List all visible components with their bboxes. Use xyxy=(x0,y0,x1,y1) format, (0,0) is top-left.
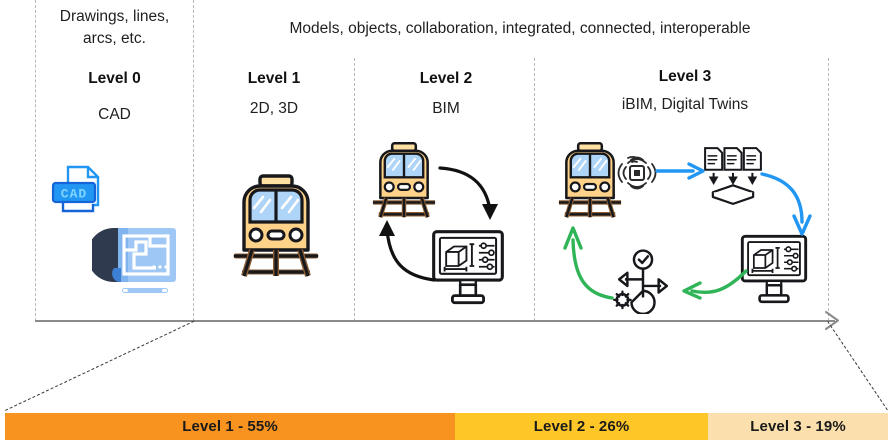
blueprint-roll-icon xyxy=(92,220,182,302)
bim-caption: Models, objects, collaboration, integrat… xyxy=(210,18,830,40)
bar-segment-level-3: Level 3 - 19% xyxy=(708,413,888,440)
cycle-arrow-up-icon xyxy=(378,210,440,288)
connector-right-diagonal xyxy=(827,321,888,410)
level-3-title: Level 3 xyxy=(545,68,825,86)
decision-process-icon xyxy=(606,248,680,314)
level-1-subtitle: 2D, 3D xyxy=(200,100,348,118)
bar-segment-level-1: Level 1 - 55% xyxy=(5,413,455,440)
monitor-model-icon xyxy=(429,227,507,305)
level-1-title: Level 1 xyxy=(200,70,348,88)
train-icon xyxy=(556,140,624,222)
cycle-arrow-down-icon xyxy=(436,162,506,230)
cad-file-icon: CAD xyxy=(46,160,108,222)
level-2-title: Level 2 xyxy=(362,70,530,88)
separator-level0-level1 xyxy=(193,0,194,321)
separator-level1-level2 xyxy=(354,58,355,321)
data-aggregation-icon xyxy=(700,145,766,207)
train-icon xyxy=(230,172,322,282)
level-2-subtitle: BIM xyxy=(362,100,530,118)
arrow-train-to-data-icon xyxy=(655,162,707,180)
separator-level2-level3 xyxy=(534,58,535,321)
bar-segment-level-2: Level 2 - 26% xyxy=(455,413,708,440)
iot-sensor-icon xyxy=(617,152,657,194)
connector-left-diagonal xyxy=(5,321,194,411)
level-0-subtitle: CAD xyxy=(42,106,187,124)
bim-maturity-diagram: Drawings, lines, arcs, etc. Models, obje… xyxy=(0,0,892,440)
separator-left-edge xyxy=(35,0,36,321)
arrow-monitor-to-decision-icon xyxy=(680,265,750,301)
arrow-decision-to-train-icon xyxy=(562,222,616,304)
level-0-title: Level 0 xyxy=(42,70,187,88)
level-3-subtitle: iBIM, Digital Twins xyxy=(545,96,825,114)
svg-text:CAD: CAD xyxy=(61,187,87,202)
cad-caption: Drawings, lines, arcs, etc. xyxy=(42,6,187,51)
separator-right-edge xyxy=(828,58,829,321)
arrow-data-to-monitor-icon xyxy=(760,170,812,242)
maturity-axis xyxy=(35,320,835,322)
